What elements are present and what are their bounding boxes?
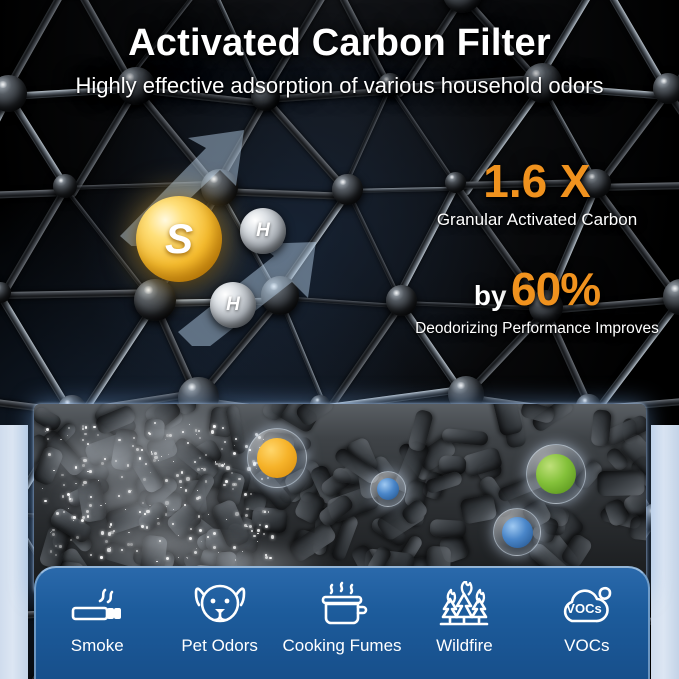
improvement-caption: Deodorizing Performance Improves <box>403 320 671 338</box>
odor-types-bar: SmokePet OdorsCooking FumesWildfireVOCsV… <box>34 566 650 679</box>
odor-type-cooking-fumes[interactable]: Cooking Fumes <box>281 568 403 656</box>
odor-particle-blue-small <box>370 471 406 507</box>
odor-type-label: Cooking Fumes <box>282 636 401 656</box>
h2s-molecule-graphic: S H H <box>118 140 328 340</box>
cigarette-smoke-icon <box>70 581 124 629</box>
right-edge-strip <box>651 425 679 679</box>
voc-cloud-icon: VOCs <box>558 581 616 629</box>
burning-trees-icon <box>437 581 491 629</box>
odor-type-wildfire[interactable]: Wildfire <box>403 568 525 656</box>
multiplier-value: 1.6 X <box>409 158 665 204</box>
multiplier-caption: Granular Activated Carbon <box>409 210 665 230</box>
odor-type-vocs[interactable]: VOCsVOCs <box>526 568 648 656</box>
improvement-stat-block: by 60% Deodorizing Performance Improves <box>403 262 671 338</box>
improvement-value: 60% <box>511 263 600 315</box>
odor-type-label: Wildfire <box>436 636 493 656</box>
improvement-value-row: by 60% <box>403 262 671 316</box>
svg-text:VOCs: VOCs <box>566 601 601 616</box>
page-title: Activated Carbon Filter <box>0 22 679 65</box>
header-block: Activated Carbon Filter Highly effective… <box>0 22 679 99</box>
page-subtitle: Highly effective adsorption of various h… <box>0 73 679 99</box>
odor-type-smoke[interactable]: Smoke <box>36 568 158 656</box>
product-infographic: Activated Carbon Filter Highly effective… <box>0 0 679 679</box>
improvement-prefix: by <box>474 280 507 311</box>
odor-type-pet-odors[interactable]: Pet Odors <box>158 568 280 656</box>
odor-type-label: VOCs <box>564 636 609 656</box>
dog-face-icon <box>194 581 246 629</box>
left-edge-strip <box>0 425 28 679</box>
odor-particle-green <box>526 444 586 504</box>
odor-particle-orange <box>247 428 307 488</box>
hydrogen-atom-1: H <box>240 208 286 254</box>
sulfur-atom: S <box>136 196 222 282</box>
odor-particle-blue-large <box>493 508 541 556</box>
odor-type-label: Smoke <box>71 636 124 656</box>
steaming-pot-icon <box>316 581 368 629</box>
odor-type-label: Pet Odors <box>181 636 258 656</box>
hydrogen-atom-2: H <box>210 282 256 328</box>
multiplier-stat-block: 1.6 X Granular Activated Carbon <box>409 158 665 230</box>
